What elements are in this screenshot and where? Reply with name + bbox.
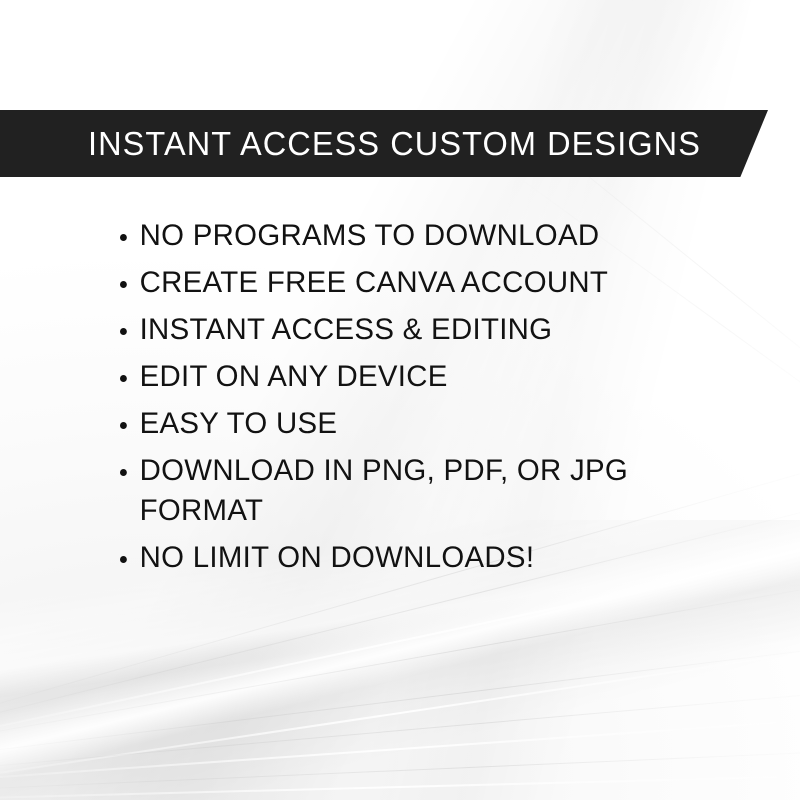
- satin-streak: [0, 712, 800, 785]
- list-item: EDIT ON ANY DEVICE: [120, 357, 708, 397]
- list-item: CREATE FREE CANVA ACCOUNT: [120, 263, 708, 303]
- feature-text: INSTANT ACCESS & EDITING: [140, 313, 553, 346]
- feature-text: DOWNLOAD IN PNG, PDF, OR JPG: [140, 454, 628, 487]
- list-item: DOWNLOAD IN PNG, PDF, OR JPG FORMAT: [120, 451, 708, 531]
- list-item: NO LIMIT ON DOWNLOADS!: [120, 538, 708, 578]
- feature-text: NO PROGRAMS TO DOWNLOAD: [140, 219, 600, 252]
- page-title: INSTANT ACCESS CUSTOM DESIGNS: [88, 127, 701, 160]
- feature-text: EDIT ON ANY DEVICE: [140, 360, 448, 393]
- list-item: INSTANT ACCESS & EDITING: [120, 310, 708, 350]
- poster-canvas: INSTANT ACCESS CUSTOM DESIGNS NO PROGRAM…: [0, 0, 800, 800]
- feature-text: CREATE FREE CANVA ACCOUNT: [140, 266, 609, 299]
- feature-list: NO PROGRAMS TO DOWNLOAD CREATE FREE CANV…: [120, 216, 720, 585]
- list-item: NO PROGRAMS TO DOWNLOAD: [120, 216, 708, 256]
- feature-text: EASY TO USE: [140, 407, 338, 440]
- list-item: EASY TO USE: [120, 404, 708, 444]
- header-banner: INSTANT ACCESS CUSTOM DESIGNS: [0, 110, 768, 177]
- satin-streak: [0, 571, 800, 750]
- feature-text: NO LIMIT ON DOWNLOADS!: [140, 541, 535, 574]
- satin-streak: [0, 773, 800, 800]
- feature-text-wrapped: FORMAT: [140, 491, 708, 531]
